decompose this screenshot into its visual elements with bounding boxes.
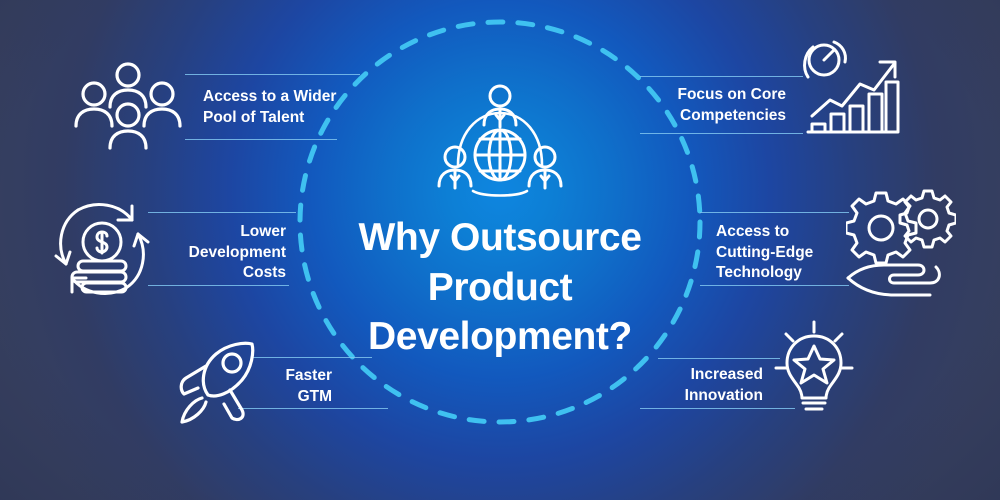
connector-line-top [658, 358, 780, 359]
feature-label: Focus on Core Competencies [636, 85, 786, 126]
connector-line-top [185, 74, 360, 75]
global-team-globe-icon [427, 83, 573, 201]
page-title: Why Outsource Product Development? [320, 213, 680, 362]
lightbulb-star-icon [772, 320, 856, 416]
gears-in-hand-icon [846, 185, 956, 297]
connector-line-top [252, 357, 372, 358]
connector-line-bottom [700, 285, 849, 286]
connector-line-top [640, 76, 803, 77]
connector-line-bottom [640, 133, 803, 134]
group-of-people-icon [72, 60, 184, 160]
feature-label: Access to a Wider Pool of Talent [203, 87, 373, 128]
rocket-icon [172, 340, 264, 424]
connector-line-top [148, 212, 296, 213]
connector-line-top [700, 212, 849, 213]
infographic-canvas: Why Outsource Product Development? Acces… [0, 0, 1000, 500]
feature-label: Increased Innovation [638, 365, 763, 406]
money-recycle-coins-icon [52, 198, 152, 300]
connector-line-bottom [148, 285, 289, 286]
growth-bar-chart-speedometer-icon [800, 40, 902, 142]
connector-line-bottom [185, 139, 337, 140]
